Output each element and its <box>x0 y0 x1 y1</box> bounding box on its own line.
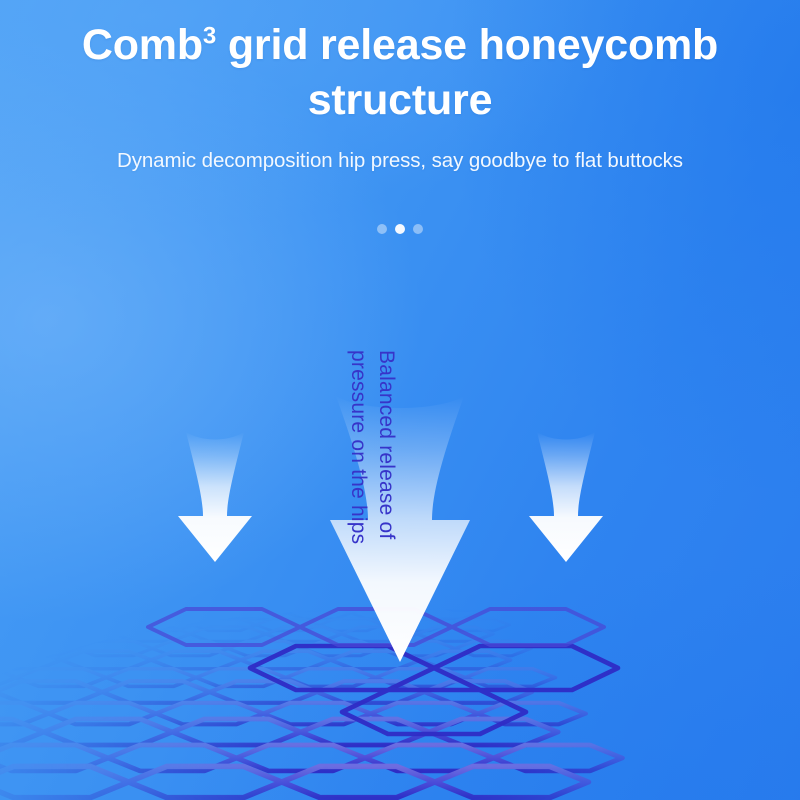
right-pressure-arrow <box>529 432 603 562</box>
carousel-dot-3[interactable] <box>413 224 423 234</box>
center-pressure-arrow <box>330 396 470 662</box>
poster-header: Comb3 grid release honeycomb structure D… <box>0 0 800 175</box>
title-superscript: 3 <box>203 23 216 50</box>
page-subtitle: Dynamic decomposition hip press, say goo… <box>0 148 800 175</box>
page-title: Comb3 grid release honeycomb structure <box>0 0 800 128</box>
title-prefix: Comb <box>82 21 203 69</box>
carousel-dot-2[interactable] <box>395 224 405 234</box>
carousel-dots[interactable] <box>0 224 800 234</box>
title-rest: grid release honeycomb structure <box>216 21 718 124</box>
carousel-dot-1[interactable] <box>377 224 387 234</box>
left-pressure-arrow <box>178 432 252 562</box>
product-feature-poster: Balanced release of pressure on the hips… <box>0 0 800 800</box>
